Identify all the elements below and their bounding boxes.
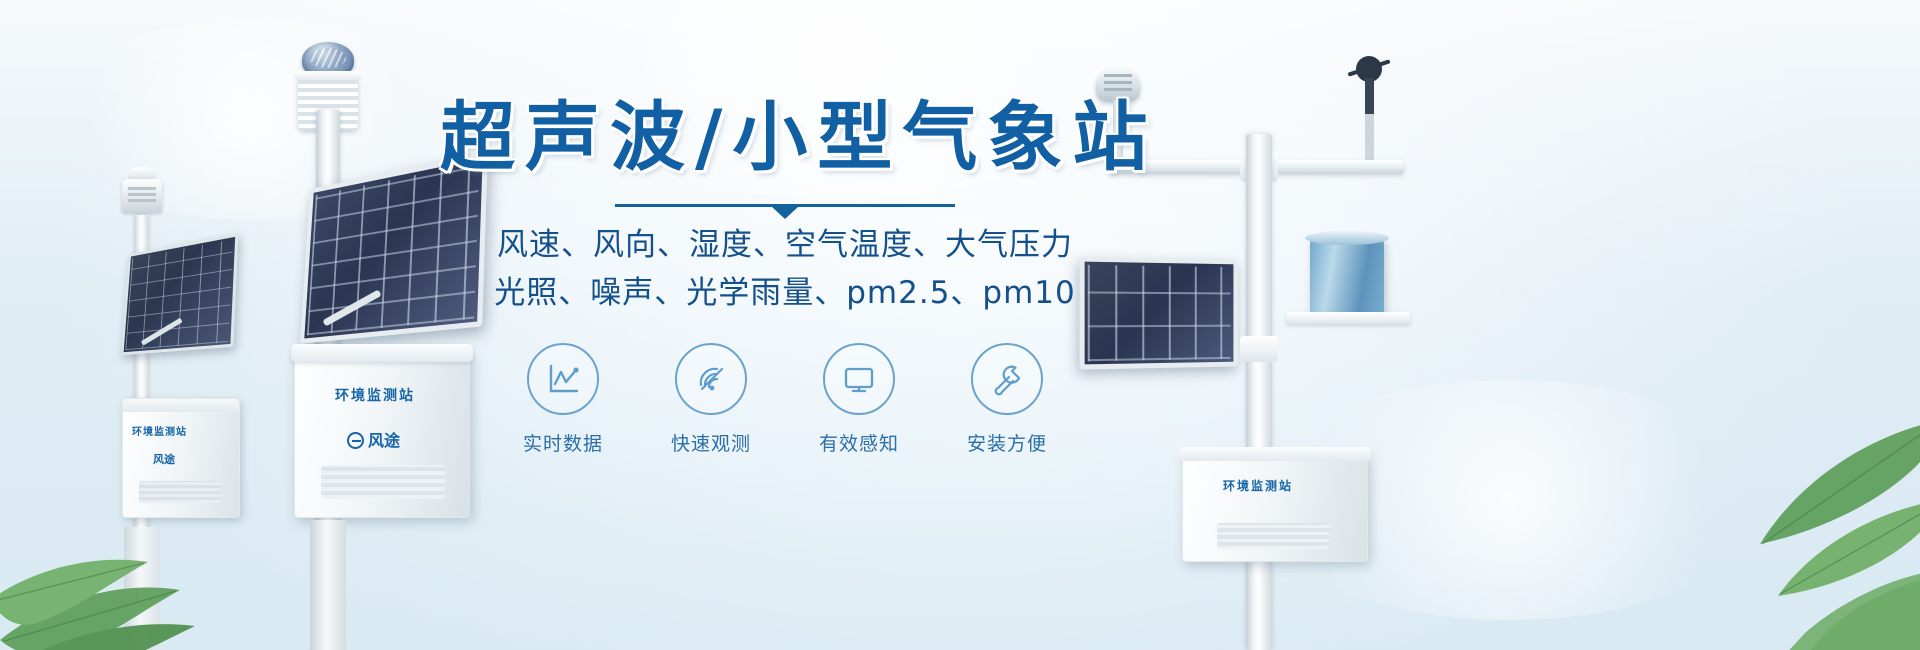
feature-label: 实时数据 <box>510 429 616 456</box>
divider <box>615 201 955 215</box>
cabinet-label: 环境监测站 <box>335 385 415 405</box>
cabinet-vent <box>1217 523 1329 549</box>
cabinet-lid <box>123 399 239 412</box>
feature-item-effective-sensing[interactable]: 有效感知 <box>806 343 912 456</box>
mast-base <box>124 527 160 647</box>
solar-cell-grid <box>125 239 233 350</box>
brand-text: 风途 <box>368 433 400 450</box>
feature-icon-circle <box>675 343 747 415</box>
control-cabinet: 环境监测站 <box>1182 452 1368 562</box>
feature-label: 安装方便 <box>954 429 1060 456</box>
cabinet-vent <box>139 481 221 503</box>
feature-icon-circle <box>823 343 895 415</box>
product-banner: 环境监测站 风途 环境监测站 风途 <box>0 0 1920 650</box>
feature-label: 有效感知 <box>806 429 912 456</box>
cabinet-brand: 风途 <box>347 427 400 451</box>
feature-item-realtime-data[interactable]: 实时数据 <box>510 343 616 456</box>
sensor-stem <box>1365 78 1374 164</box>
feature-label: 快速观测 <box>658 429 764 456</box>
line-chart-icon <box>543 359 583 399</box>
brand-logo-icon <box>347 432 364 449</box>
feature-icon-circle <box>527 343 599 415</box>
wrench-icon <box>987 359 1027 399</box>
feature-list: 实时数据 快速观测 <box>440 343 1130 456</box>
page-title: 超声波/小型气象站 <box>440 96 1130 179</box>
control-cabinet: 环境监测站 风途 <box>122 398 240 518</box>
equipment-shelf <box>1286 312 1410 324</box>
feature-icon-circle <box>971 343 1043 415</box>
radiation-shield-sensor <box>122 179 162 213</box>
cabinet-label: 环境监测站 <box>132 423 187 438</box>
mast-collar <box>1240 336 1278 362</box>
cabinet-vent <box>321 465 445 499</box>
down-caret-icon <box>772 207 798 219</box>
subtitle-line-1: 风速、风向、湿度、空气温度、大气压力 <box>440 221 1130 269</box>
banner-content: 超声波/小型气象站 风速、风向、湿度、空气温度、大气压力 光照、噪声、光学雨量、… <box>440 96 1130 456</box>
cabinet-brand: 风途 <box>153 451 175 467</box>
subtitle-line-2: 光照、噪声、光学雨量、pm2.5、pm10 <box>440 269 1130 317</box>
weather-station-left-small: 环境监测站 风途 <box>108 175 258 650</box>
feature-item-easy-install[interactable]: 安装方便 <box>954 343 1060 456</box>
mast-pole <box>1246 134 1272 650</box>
feature-item-fast-observation[interactable]: 快速观测 <box>658 343 764 456</box>
mast-base <box>310 520 346 650</box>
rain-gauge <box>1310 238 1384 316</box>
cabinet-label: 环境监测站 <box>1223 477 1293 494</box>
leaf-decoration-right <box>1610 380 1920 650</box>
radar-signal-icon <box>691 359 731 399</box>
solar-panel <box>121 233 238 355</box>
cabinet-lid <box>1179 447 1371 461</box>
monitor-icon <box>839 359 879 399</box>
sensor-cap <box>128 167 156 179</box>
